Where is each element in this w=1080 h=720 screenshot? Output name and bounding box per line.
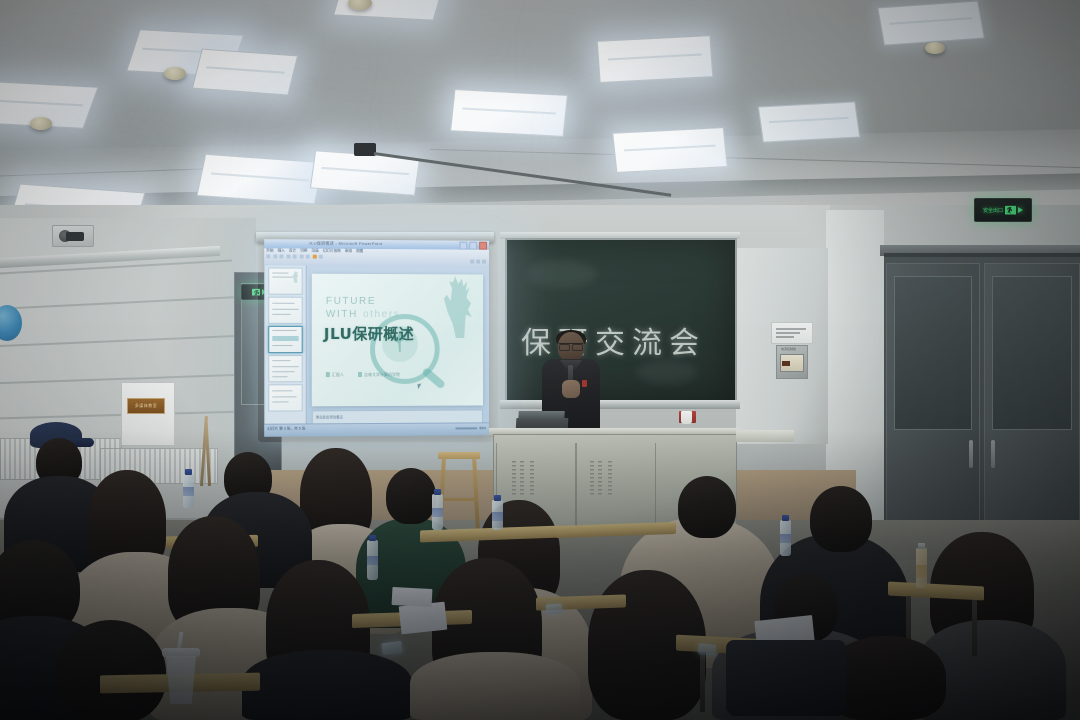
bottle-label [916,565,927,578]
tea-bottle [916,548,927,588]
paper-cup [681,411,692,424]
ceiling-light-panel [877,0,984,45]
console-vent [608,461,612,495]
exit-arrow-icon [1018,207,1023,213]
bold-icon[interactable] [279,254,283,258]
ceiling-light-panel [450,89,568,137]
door-handle[interactable] [991,440,995,468]
cup-body [166,656,196,704]
bottle-label [492,512,503,521]
bottle-cap [918,543,925,549]
water-bottle [367,540,378,580]
zoom-slider[interactable] [456,427,478,429]
font-icon[interactable] [273,254,277,258]
iced-drink-cup [164,648,198,704]
bottle-cap [494,495,501,501]
camera-mount [66,232,84,241]
audience-member-head [810,486,872,552]
ribbon-tab[interactable]: 设计 [289,248,296,253]
ceiling-light-panel [196,154,323,204]
console-door[interactable] [576,443,656,529]
exit-sign-text: 安全出口 [983,207,1003,214]
slide-counter: 幻灯片 第 3 张，共 5 张 [267,426,305,431]
paste-icon[interactable] [266,254,270,258]
deer-illustration-icon [442,276,480,338]
arrange-icon[interactable] [319,255,323,259]
stool-leg [472,458,480,530]
water-bottle [492,500,503,530]
ribbon-tab[interactable]: 视图 [356,249,363,254]
tissue-pack [392,587,433,607]
ribbon-tab[interactable]: 动画 [311,249,318,254]
ribbon-tab[interactable]: 切换 [300,248,307,253]
console-vent [598,461,602,495]
notes-placeholder: 单击此处添加备注 [313,410,482,423]
italic-icon[interactable] [286,254,290,258]
slide-subtitle-others: others [363,309,400,320]
chalk-tray [500,400,740,409]
projection-screen: JLU保研概述 - Microsoft PowerPoint 开始 插入 设计 … [264,239,489,437]
door-plaque: 多媒体教室 [127,398,165,414]
slide-meta-row: 汇报人 吉林大学计算机学院 [326,372,400,378]
thumb-highlight-band [272,336,298,341]
slide-thumbnail[interactable] [268,355,302,382]
console-vent [512,461,516,495]
zoom-percent: 66% [479,426,486,430]
water-bottle [780,520,791,556]
smoke-detector [30,117,52,130]
exit-sign-right: 安全出口 [974,198,1032,222]
magnifier-handle-icon [421,367,446,390]
wall-whiteboard [121,382,175,446]
presenter-badge [582,380,587,387]
thumb-line [272,273,288,274]
wooden-stool [438,452,480,530]
control-panel-window [780,354,804,372]
ribbon-tab[interactable]: 审阅 [345,249,352,254]
thumb-line [272,401,288,402]
console-vent [530,461,534,495]
ribbon-tab[interactable]: 插入 [278,248,285,253]
slide-meta-presenter-text: 汇报人 [332,372,344,377]
smartphone-screen[interactable] [546,603,563,614]
control-panel-label: 电源控制箱 [781,347,796,351]
stool-rung [441,498,478,501]
building-icon [358,372,362,377]
slide-subtitle-line2: WITHothers [326,309,400,320]
chalk-smudge [637,360,697,384]
slide-meta-presenter: 汇报人 [326,372,344,378]
slide-thumbnail[interactable] [268,267,302,294]
audience-member-torso [410,652,580,720]
ceiling-light-panel [758,101,860,142]
bottle-cap [185,469,192,475]
water-bottle [183,474,194,508]
window-controls[interactable] [459,242,487,250]
shape-icon[interactable] [306,255,310,259]
bottle-label [432,508,443,517]
chalk-smudge [527,260,597,288]
audience-member-head [386,468,436,524]
thumb-line [272,376,287,377]
align-icon[interactable] [293,254,297,258]
presenter-hands [562,380,580,398]
deer-icon [292,271,300,283]
slide-meta-org: 吉林大学计算机学院 [358,372,400,378]
bottle-label [183,487,194,496]
notice-line [776,328,806,330]
running-person-icon [1005,206,1016,215]
ribbon-tab[interactable]: 开始 [266,248,273,253]
backpack [726,640,846,716]
lecture-hall-photo: 多媒体教室 安全出口 电源控制箱 [0,0,1080,720]
active-slide[interactable]: FUTURE WITHothers JLU保研概述 汇报人 吉林大学计算机学院 [312,274,483,407]
smartphone-screen[interactable] [697,643,716,656]
ribbon-right-group[interactable] [470,260,486,264]
thumb-line [272,345,292,346]
slide-thumbnail-pane[interactable] [265,265,307,423]
slide-subtitle-with: WITH [326,309,358,320]
slide-heading: JLU保研概述 [324,323,414,344]
thumb-line [272,309,298,310]
cup-lid [162,648,200,657]
thumb-line [272,390,292,391]
thumb-line [272,360,290,361]
slide-thumbnail[interactable] [268,297,302,324]
slide-thumbnail[interactable] [268,384,302,411]
bottle-label [780,534,791,543]
audience-member-head [678,476,736,538]
thumb-line [272,366,298,367]
smoke-detector [164,67,186,80]
ribbon-tab-strip[interactable]: 开始 插入 设计 切换 动画 幻灯片放映 审阅 视图 [266,248,363,254]
zoom-control[interactable]: 66% [456,426,486,430]
thumb-line [272,314,290,315]
desk-leg [972,600,977,656]
person-icon [326,373,330,378]
slide-subtitle-line1: FUTURE [326,296,376,307]
console-vent [520,461,524,495]
ceiling-light-panel [597,35,714,83]
thumb-line [272,396,296,398]
thumb-line [272,330,296,331]
ceiling-light-panel [192,49,298,96]
slide-meta-org-text: 吉林大学计算机学院 [364,372,400,377]
bottle-cap [434,489,441,495]
powerpoint-status-bar: 幻灯片 第 3 张，共 5 张 66% [264,422,489,436]
notice-line [776,332,800,334]
minimize-icon[interactable] [459,242,467,250]
bullet-list-icon[interactable] [299,255,303,259]
bottle-label [367,556,378,565]
water-bottle [432,494,443,530]
door-handle[interactable] [969,440,973,468]
ribbon-tab[interactable]: 幻灯片放映 [323,249,341,254]
bottle-cap [369,535,376,541]
maximize-icon[interactable] [469,242,477,250]
wall-control-panel[interactable]: 电源控制箱 [776,345,808,379]
close-icon[interactable] [479,242,487,250]
desk-leg [700,652,705,712]
slide-thumbnail-active[interactable] [268,326,302,353]
replace-icon[interactable] [476,260,480,264]
mouse-cursor-icon [417,383,422,389]
audience-member-head [56,620,166,720]
door-plaque-label: 多媒体教室 [135,403,158,409]
ribbon-tool-row[interactable] [266,254,323,258]
glasses-icon [559,343,583,349]
select-icon[interactable] [482,260,486,264]
powerpoint-title-text: JLU保研概述 - Microsoft PowerPoint [309,241,383,248]
side-shelf [736,430,794,442]
running-person-icon [252,289,260,296]
wall-paper-notice [771,322,813,344]
thumb-line [272,303,294,304]
shape-fill-icon[interactable] [312,255,316,259]
ceiling-projector [354,143,376,156]
find-icon[interactable] [470,260,474,264]
door-glass-pane [992,276,1072,430]
thumb-line [272,371,294,372]
notice-line [776,336,794,338]
bottle-cap [782,515,789,521]
console-vent [590,461,594,495]
smoke-detector [925,42,945,54]
thumb-line [272,277,292,278]
door-glass-pane [894,276,972,430]
audience-member-torso [242,650,412,720]
ceiling-light-panel [612,127,728,173]
